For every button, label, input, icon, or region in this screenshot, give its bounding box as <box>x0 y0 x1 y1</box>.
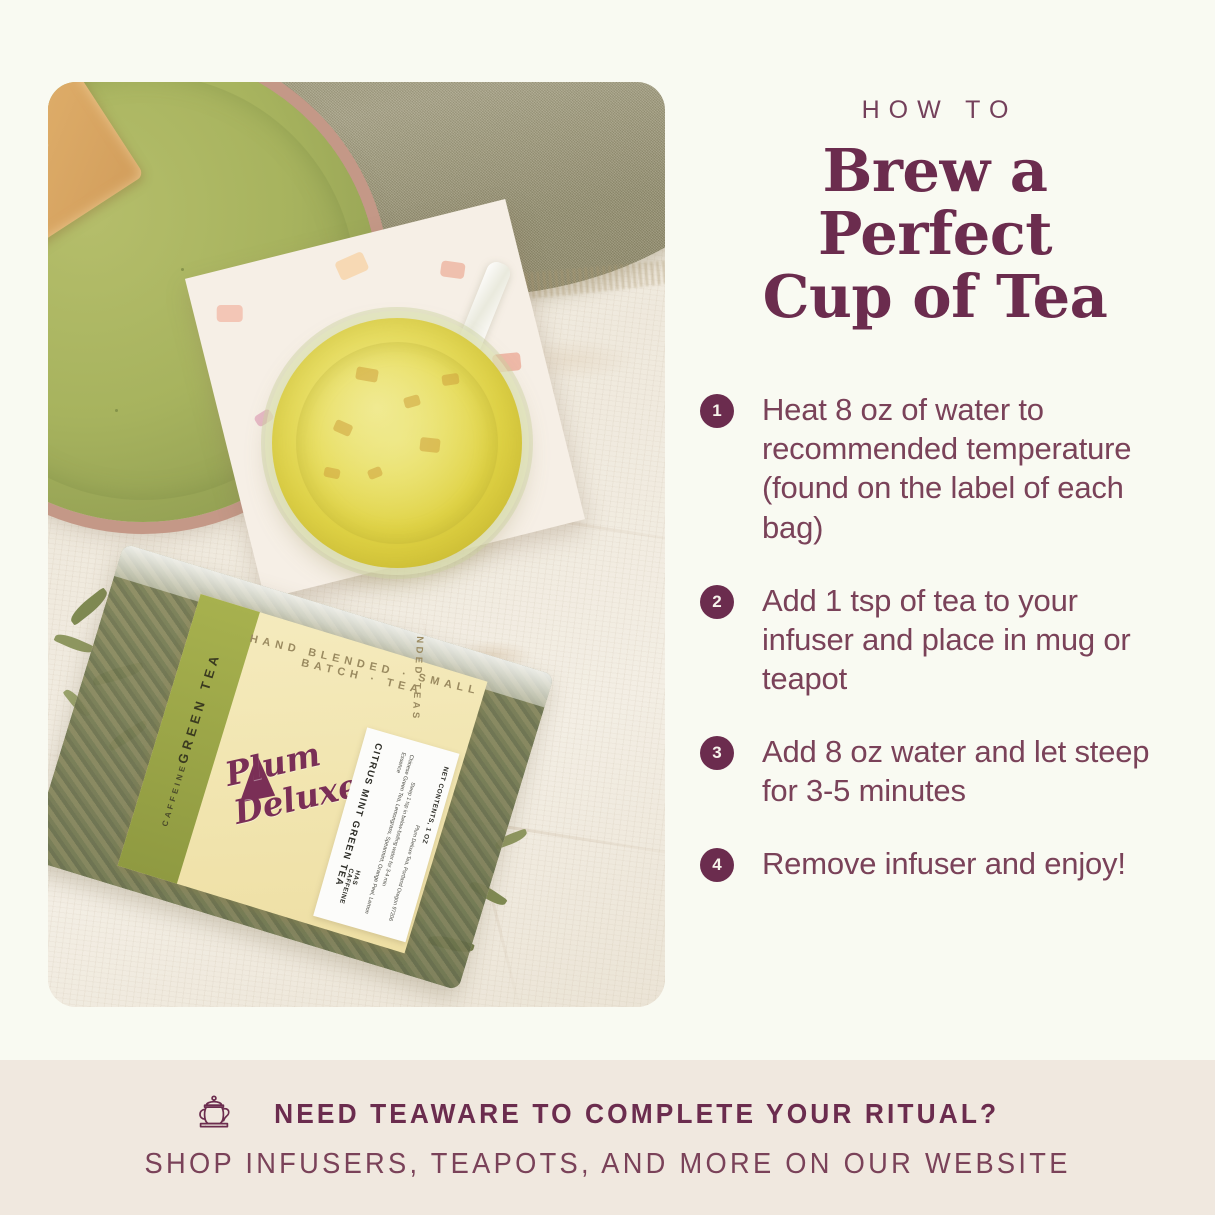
cta-banner[interactable]: NEED TEAWARE TO COMPLETE YOUR RITUAL? SH… <box>0 1060 1215 1215</box>
step-number-badge: 2 <box>700 585 734 619</box>
step-text: Add 1 tsp of tea to your infuser and pla… <box>762 581 1170 698</box>
step-text: Remove infuser and enjoy! <box>762 844 1126 883</box>
step-text: Add 8 oz water and let steep for 3-5 min… <box>762 732 1170 810</box>
green-tea-band-type: GREEN TEA <box>174 650 222 766</box>
cta-banner-row-1: NEED TEAWARE TO COMPLETE YOUR RITUAL? <box>193 1094 1022 1134</box>
step-number-badge: 3 <box>700 736 734 770</box>
hero-photo: GREEN TEA CAFFEINE HAND BLENDED · SMALL … <box>48 82 665 1007</box>
page-title: Brew a Perfect Cup of Tea <box>700 139 1170 328</box>
list-item: 4 Remove infuser and enjoy! <box>700 844 1170 883</box>
teapot-icon <box>193 1094 235 1134</box>
instructions-panel: HOW TO Brew a Perfect Cup of Tea 1 Heat … <box>700 96 1170 917</box>
step-text: Heat 8 oz of water to recommended temper… <box>762 390 1170 546</box>
cta-line-2: SHOP INFUSERS, TEAPOTS, AND MORE ON OUR … <box>144 1148 1070 1181</box>
list-item: 2 Add 1 tsp of tea to your infuser and p… <box>700 581 1170 698</box>
glass-tea-cup <box>272 318 522 568</box>
list-item: 3 Add 8 oz water and let steep for 3-5 m… <box>700 732 1170 810</box>
steps-list: 1 Heat 8 oz of water to recommended temp… <box>700 390 1170 882</box>
kicker-label: HOW TO <box>700 96 1170 125</box>
cracker <box>48 82 144 279</box>
step-number-badge: 1 <box>700 394 734 428</box>
green-tea-band-caffeine: CAFFEINE <box>160 762 188 827</box>
list-item: 1 Heat 8 oz of water to recommended temp… <box>700 390 1170 546</box>
title-line-2: Cup of Tea <box>763 262 1108 331</box>
infographic-page: GREEN TEA CAFFEINE HAND BLENDED · SMALL … <box>0 0 1215 1215</box>
cta-line-1: NEED TEAWARE TO COMPLETE YOUR RITUAL? <box>274 1098 999 1130</box>
title-line-1: Brew a Perfect <box>818 136 1052 268</box>
step-number-badge: 4 <box>700 848 734 882</box>
